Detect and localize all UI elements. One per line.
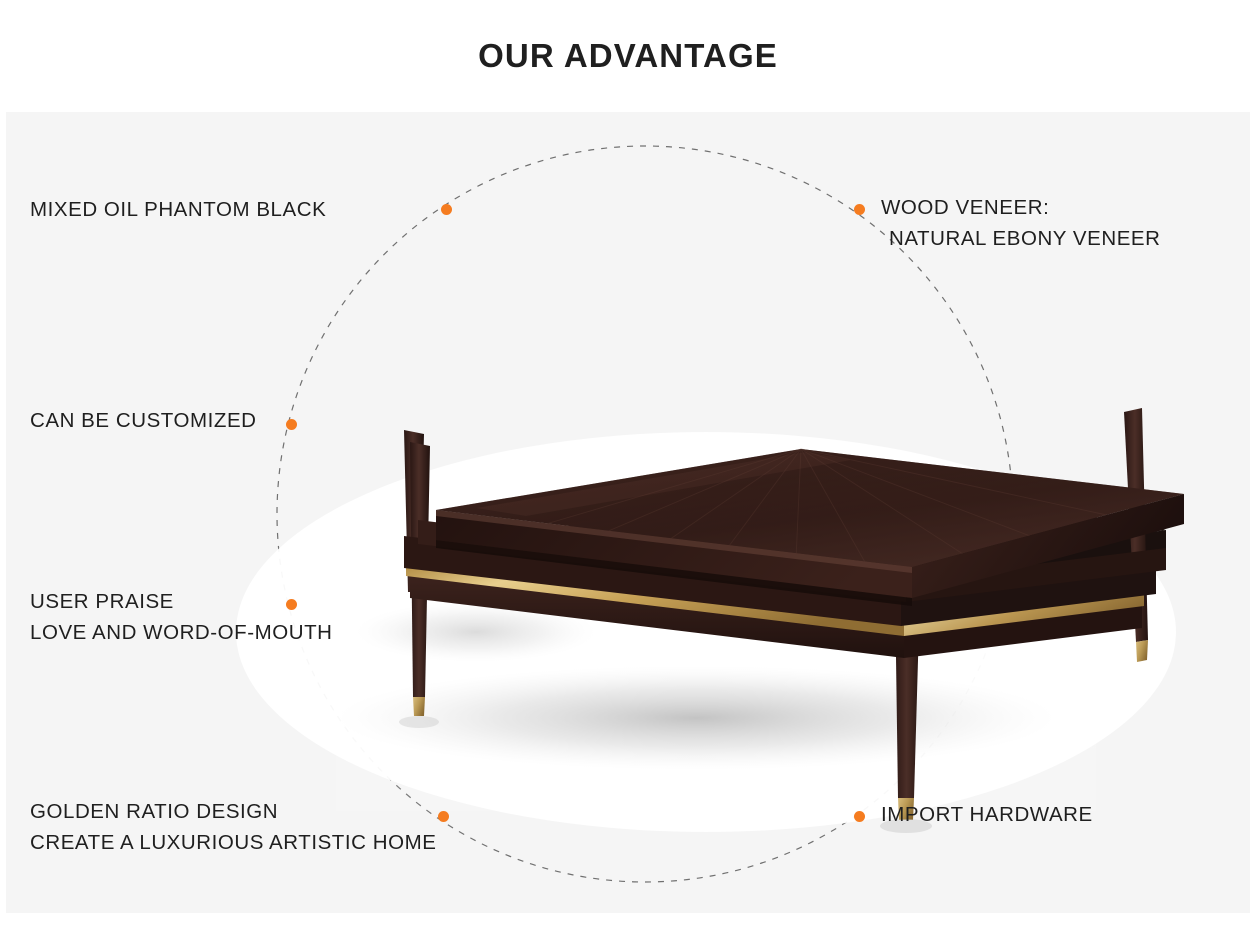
callout-line: CAN BE CUSTOMIZED — [30, 405, 257, 436]
callout-line: NATURAL EBONY VENEER — [881, 223, 1161, 254]
callout-line: CREATE A LUXURIOUS ARTISTIC HOME — [30, 827, 436, 858]
callout-golden-ratio-design: GOLDEN RATIO DESIGN CREATE A LUXURIOUS A… — [30, 796, 436, 858]
callout-user-praise: USER PRAISE LOVE AND WORD-OF-MOUTH — [30, 586, 333, 648]
marker-dot-wood-veneer[interactable] — [854, 204, 865, 215]
callout-line: LOVE AND WORD-OF-MOUTH — [30, 617, 333, 648]
page-title: OUR ADVANTAGE — [478, 37, 778, 75]
callout-wood-veneer: WOOD VENEER: NATURAL EBONY VENEER — [881, 192, 1161, 254]
callout-line: MIXED OIL PHANTOM BLACK — [30, 194, 326, 225]
page-footer-strip — [0, 913, 1256, 948]
marker-dot-golden-ratio-design[interactable] — [438, 811, 449, 822]
callout-line: GOLDEN RATIO DESIGN — [30, 796, 436, 827]
marker-dot-import-hardware[interactable] — [854, 811, 865, 822]
marker-dot-can-be-customized[interactable] — [286, 419, 297, 430]
callout-import-hardware: IMPORT HARDWARE — [881, 799, 1093, 830]
page-header: OUR ADVANTAGE — [0, 0, 1256, 112]
callout-can-be-customized: CAN BE CUSTOMIZED — [30, 405, 257, 436]
advantage-infographic: OUR ADVANTAGE — [0, 0, 1256, 948]
marker-dot-mixed-oil-phantom-black[interactable] — [441, 204, 452, 215]
callout-mixed-oil-phantom-black: MIXED OIL PHANTOM BLACK — [30, 194, 326, 225]
callout-line: WOOD VENEER: — [881, 192, 1161, 223]
callout-line: USER PRAISE — [30, 586, 333, 617]
diagram-stage: MIXED OIL PHANTOM BLACK WOOD VENEER: NAT… — [6, 112, 1250, 913]
callout-line: IMPORT HARDWARE — [881, 799, 1093, 830]
